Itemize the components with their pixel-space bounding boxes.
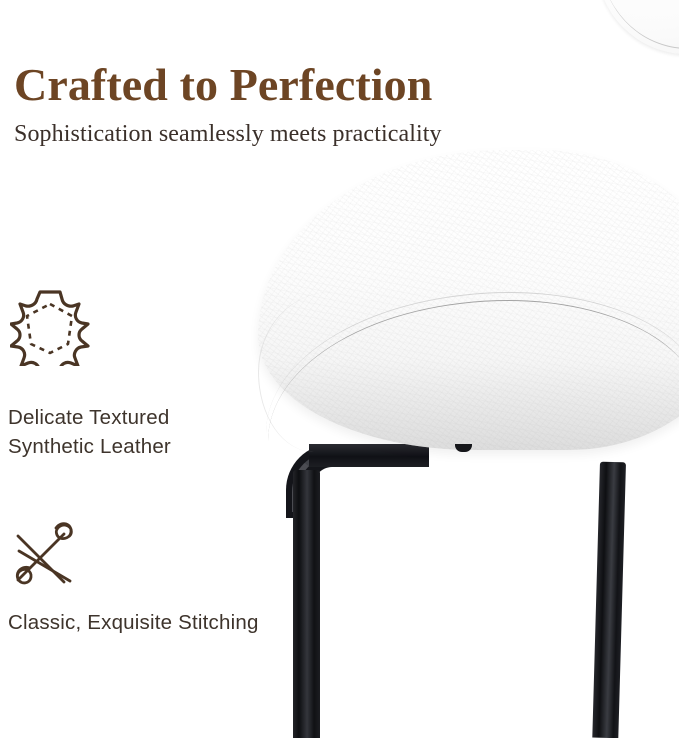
chair-leg-left — [293, 470, 320, 738]
feature-label-stitching: Classic, Exquisite Stitching — [8, 608, 259, 637]
feature-label-leather: Delicate Textured Synthetic Leather — [8, 403, 171, 461]
page-subtitle: Sophistication seamlessly meets practica… — [14, 118, 442, 150]
chair-leg-right — [592, 462, 626, 738]
leather-hide-icon — [10, 288, 90, 371]
needle-thread-stitching-icon — [10, 518, 86, 595]
page-title: Crafted to Perfection — [14, 59, 432, 111]
product-feature-banner: Crafted to Perfection Sophistication sea… — [0, 0, 679, 738]
